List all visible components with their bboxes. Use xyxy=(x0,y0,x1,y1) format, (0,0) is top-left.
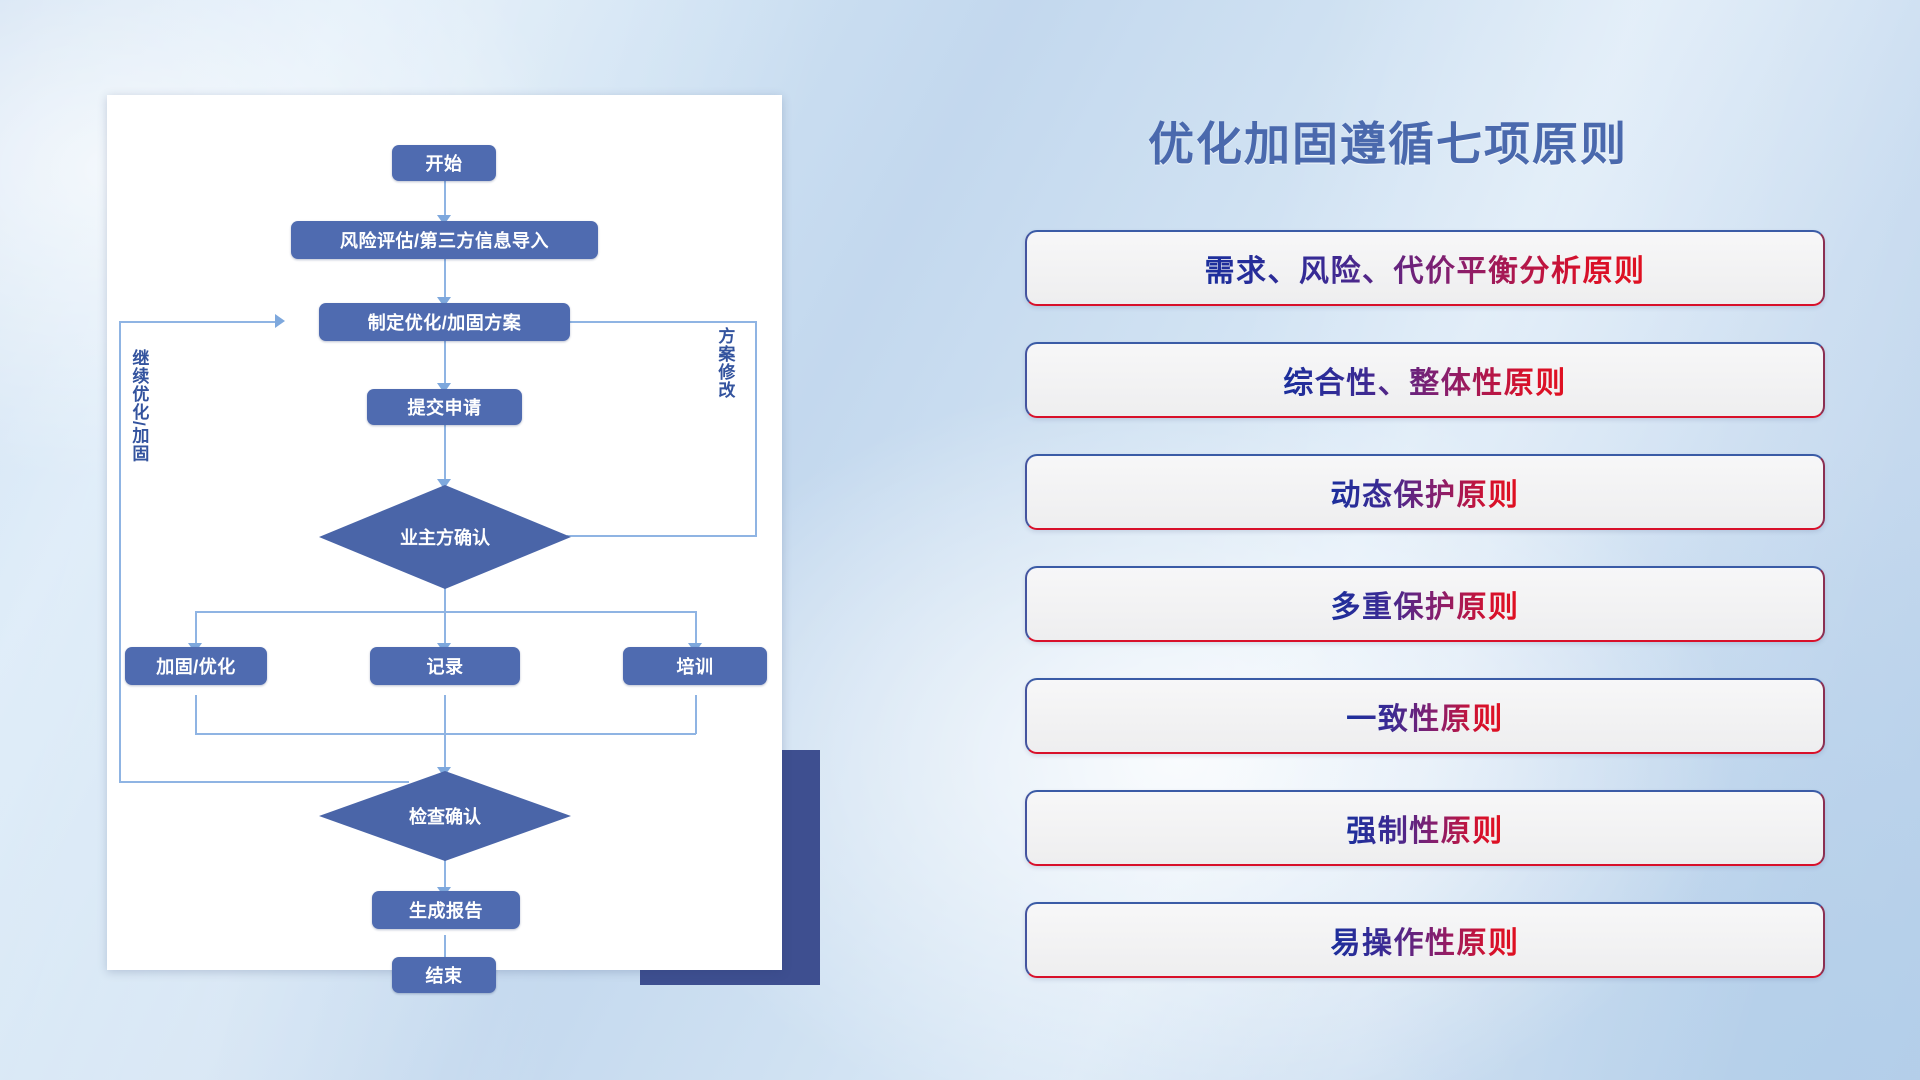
principle-card-5[interactable]: 一致性原则 xyxy=(1025,678,1825,754)
principle-card-4[interactable]: 多重保护原则 xyxy=(1025,566,1825,642)
principle-card-7[interactable]: 易操作性原则 xyxy=(1025,902,1825,978)
flow-node-reinforce-label: 加固/优化 xyxy=(156,653,236,679)
arrowhead-plan-from-left xyxy=(275,314,285,328)
connector-to-train xyxy=(695,611,697,647)
flow-node-end[interactable]: 结束 xyxy=(392,957,496,993)
flow-node-submit-application[interactable]: 提交申请 xyxy=(367,389,522,425)
flow-node-plan-label: 制定优化/加固方案 xyxy=(368,309,522,335)
principle-card-3-label: 动态保护原则 xyxy=(1331,470,1520,514)
principle-card-6[interactable]: 强制性原则 xyxy=(1025,790,1825,866)
flow-edge-label-plan-revision: 方案修改 xyxy=(715,327,733,399)
connector-to-reinforce xyxy=(195,611,197,647)
flow-node-start-label: 开始 xyxy=(426,150,463,176)
principle-card-7-label: 易操作性原则 xyxy=(1331,918,1520,962)
flow-node-check-confirm-label: 检查确认 xyxy=(409,803,481,829)
principles-panel: 优化加固遵循七项原则 需求、风险、代价平衡分析原则 综合性、整体性原则 动态保护… xyxy=(1020,0,1840,1080)
connector-owner-down xyxy=(444,587,446,611)
connector-owner-right xyxy=(567,535,757,537)
connector-check-to-left xyxy=(119,781,409,783)
flow-node-record-label: 记录 xyxy=(427,653,464,679)
flow-node-owner-confirm-label: 业主方确认 xyxy=(400,524,490,550)
flow-node-generate-report-label: 生成报告 xyxy=(409,897,483,923)
principle-card-5-label: 一致性原则 xyxy=(1346,694,1504,738)
flow-node-plan[interactable]: 制定优化/加固方案 xyxy=(319,303,570,341)
flow-node-training[interactable]: 培训 xyxy=(623,647,767,685)
flow-node-risk-assessment-label: 风险评估/第三方信息导入 xyxy=(340,227,549,253)
connector-reinforce-down xyxy=(195,695,197,734)
panel-title: 优化加固遵循七项原则 xyxy=(1148,108,1628,174)
principle-card-4-label: 多重保护原则 xyxy=(1331,582,1520,626)
principle-card-2[interactable]: 综合性、整体性原则 xyxy=(1025,342,1825,418)
flow-node-generate-report[interactable]: 生成报告 xyxy=(372,891,520,929)
principle-card-3[interactable]: 动态保护原则 xyxy=(1025,454,1825,530)
connector-submit-to-owner xyxy=(444,425,446,483)
connector-train-down xyxy=(695,695,697,734)
flow-node-risk-assessment[interactable]: 风险评估/第三方信息导入 xyxy=(291,221,598,259)
connector-risk-to-plan xyxy=(444,257,446,301)
principles-card-list: 需求、风险、代价平衡分析原则 综合性、整体性原则 动态保护原则 多重保护原则 一… xyxy=(1025,230,1825,1014)
connector-left-vertical xyxy=(119,321,121,781)
flowchart-card: 开始 风险评估/第三方信息导入 制定优化/加固方案 提交申请 业主方确认 加固/… xyxy=(107,95,782,970)
principle-card-6-label: 强制性原则 xyxy=(1346,806,1504,850)
flow-node-start[interactable]: 开始 xyxy=(392,145,496,181)
principle-card-2-label: 综合性、整体性原则 xyxy=(1283,358,1567,402)
flow-node-reinforce[interactable]: 加固/优化 xyxy=(125,647,267,685)
principle-card-1-label: 需求、风险、代价平衡分析原则 xyxy=(1205,246,1646,290)
connector-left-to-plan xyxy=(119,321,279,323)
connector-record-to-check xyxy=(444,695,446,771)
flow-node-submit-application-label: 提交申请 xyxy=(408,394,482,420)
flow-node-check-confirm[interactable]: 检查确认 xyxy=(319,771,571,861)
flow-node-end-label: 结束 xyxy=(426,962,463,988)
connector-plan-to-submit xyxy=(444,339,446,387)
flow-edge-label-continue-optimize: 继续优化/加固 xyxy=(129,349,147,463)
flow-node-record[interactable]: 记录 xyxy=(370,647,520,685)
principle-card-1[interactable]: 需求、风险、代价平衡分析原则 xyxy=(1025,230,1825,306)
slide-canvas: 开始 风险评估/第三方信息导入 制定优化/加固方案 提交申请 业主方确认 加固/… xyxy=(0,0,1920,1080)
flow-node-owner-confirm[interactable]: 业主方确认 xyxy=(319,485,571,589)
connector-right-up xyxy=(755,321,757,536)
connector-start-to-risk xyxy=(444,177,446,219)
flowchart-diagram: 开始 风险评估/第三方信息导入 制定优化/加固方案 提交申请 业主方确认 加固/… xyxy=(107,95,782,970)
connector-to-record xyxy=(444,611,446,647)
flow-node-training-label: 培训 xyxy=(677,653,714,679)
